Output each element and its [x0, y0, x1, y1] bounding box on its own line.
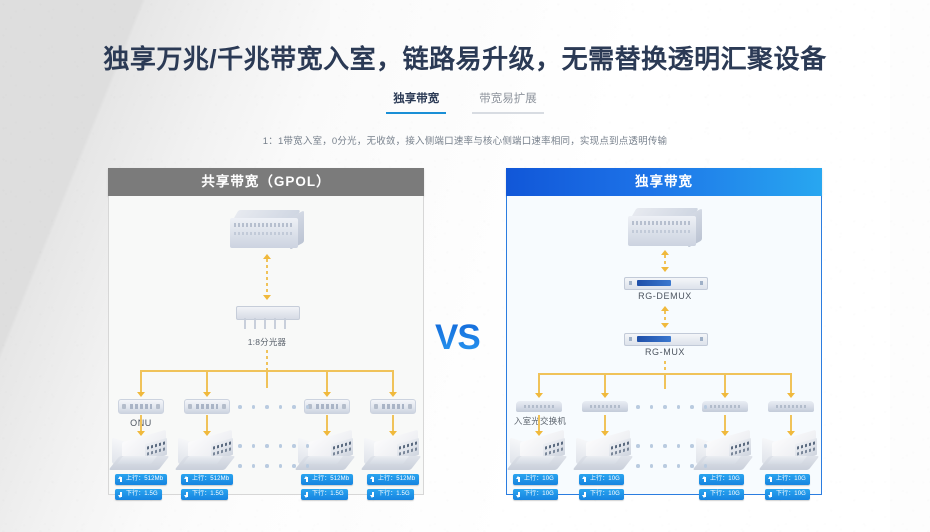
- right-badge-up-2: 上行：10G: [579, 474, 624, 485]
- left-badge-up-4: 上行：512Mb: [367, 474, 419, 485]
- left-badge-up-1: 上行：512Mb: [115, 474, 167, 485]
- right-switch-ellipsis: [636, 405, 707, 409]
- panel-exclusive-title: 独享带宽: [506, 168, 822, 196]
- arrow-down-icon: [516, 491, 521, 498]
- panel-exclusive-bandwidth: 独享带宽 RG-DEMUX RG-MUX: [506, 168, 822, 495]
- left-core-switch-icon: [230, 210, 304, 252]
- left-room-icon-4: [364, 436, 422, 474]
- right-link-3: [664, 361, 666, 373]
- right-drop-arrow-4: [787, 393, 795, 398]
- tab-exclusive-bandwidth[interactable]: 独享带宽: [386, 90, 446, 114]
- left-room-icon-2: [178, 436, 236, 474]
- tab-bar: 独享带宽 带宽易扩展: [0, 90, 930, 114]
- right-badge-up-1: 上行：10G: [513, 474, 558, 485]
- right-room-ellipsis-top: [636, 444, 707, 448]
- right-link-1: [664, 255, 666, 267]
- splitter-label: 1:8分光器: [217, 336, 317, 348]
- in-room-switch-icon-3: [702, 401, 748, 412]
- right-badge-down-4: 下行：10G: [765, 489, 810, 500]
- arrow-up-icon: [304, 476, 309, 483]
- right-drop-2: [604, 373, 606, 395]
- left-drop-2: [206, 370, 208, 394]
- onu-icon-1: [118, 399, 164, 414]
- right-room-icon-2: [576, 436, 634, 474]
- left-drop-arrow-2: [203, 392, 211, 397]
- right-link-2: [664, 311, 666, 323]
- left-drop-arrow-3: [323, 392, 331, 397]
- left-drop-arrow-4: [389, 392, 397, 397]
- onu-icon-2: [184, 399, 230, 414]
- left-drop-3: [326, 370, 328, 394]
- left-drop-arrow-1: [137, 392, 145, 397]
- right-room-ellipsis-bottom: [636, 464, 707, 468]
- right-badge-down-3: 下行：10G: [699, 489, 744, 500]
- right-badge-up-3: 上行：10G: [699, 474, 744, 485]
- right-link-arrow-down-1: [661, 267, 669, 272]
- arrow-up-icon: [768, 476, 773, 483]
- subtitle-note: 1：1带宽入室，0分光，无收敛，接入侧端口速率与核心侧端口速率相同，实现点到点透…: [0, 133, 930, 147]
- left-drop-4: [392, 370, 394, 394]
- rg-mux-label: RG-MUX: [615, 347, 715, 357]
- onu-icon-4: [370, 399, 416, 414]
- page-title: 独享万兆/千兆带宽入室，链路易升级，无需替换透明汇聚设备: [0, 39, 930, 76]
- right-drop-4: [790, 373, 792, 395]
- arrow-down-icon: [370, 491, 375, 498]
- left-drop-1: [140, 370, 142, 394]
- left-badge-down-3: 下行：1.5G: [301, 489, 348, 500]
- arrow-up-icon: [702, 476, 707, 483]
- right-drop-3: [724, 373, 726, 395]
- right-link-arrow-down-2: [661, 323, 669, 328]
- left-onu-ellipsis: [238, 405, 309, 409]
- left-link-arrow-down-1: [263, 295, 271, 300]
- in-room-switch-icon-2: [582, 401, 628, 412]
- left-room-ellipsis-bottom: [238, 464, 309, 468]
- arrow-down-icon: [702, 491, 707, 498]
- rg-mux-icon: [624, 333, 708, 346]
- right-drop-center: [664, 373, 666, 389]
- panel-shared-body: 1:8分光器: [108, 196, 424, 495]
- in-room-switch-icon-1: [516, 401, 562, 412]
- optical-splitter-icon: [236, 306, 298, 322]
- left-room-icon-3: [298, 436, 356, 474]
- left-room-icon-1: [112, 436, 170, 474]
- arrow-down-icon: [118, 491, 123, 498]
- panel-shared-bandwidth: 共享带宽（GPOL） 1:8分光器: [108, 168, 424, 495]
- left-link-1: [266, 259, 268, 295]
- left-badge-up-3: 上行：512Mb: [301, 474, 353, 485]
- left-room-ellipsis-top: [238, 444, 309, 448]
- tab-bandwidth-expansion[interactable]: 带宽易扩展: [472, 90, 544, 114]
- right-drop-arrow-2: [601, 393, 609, 398]
- arrow-down-icon: [582, 491, 587, 498]
- arrow-up-icon: [184, 476, 189, 483]
- right-drop-arrow-1: [535, 393, 543, 398]
- right-badge-down-1: 下行：10G: [513, 489, 558, 500]
- right-room-icon-4: [762, 436, 820, 474]
- panel-exclusive-body: RG-DEMUX RG-MUX: [506, 196, 822, 495]
- rg-demux-icon: [624, 277, 708, 290]
- arrow-up-icon: [118, 476, 123, 483]
- left-link-2: [266, 350, 268, 370]
- onu-icon-3: [304, 399, 350, 414]
- arrow-down-icon: [184, 491, 189, 498]
- arrow-up-icon: [370, 476, 375, 483]
- panel-shared-title: 共享带宽（GPOL）: [108, 168, 424, 196]
- in-room-switch-label: 入室光交换机: [505, 415, 575, 427]
- left-badge-down-2: 下行：1.5G: [181, 489, 228, 500]
- left-badge-down-4: 下行：1.5G: [367, 489, 414, 500]
- right-badge-down-2: 下行：10G: [579, 489, 624, 500]
- in-room-switch-icon-4: [768, 401, 814, 412]
- arrow-up-icon: [516, 476, 521, 483]
- right-core-switch-icon: [628, 208, 702, 250]
- right-badge-up-4: 上行：10G: [765, 474, 810, 485]
- right-room-icon-1: [510, 436, 568, 474]
- arrow-up-icon: [582, 476, 587, 483]
- left-badge-up-2: 上行：512Mb: [181, 474, 233, 485]
- left-drop-center: [266, 370, 268, 388]
- right-room-icon-3: [696, 436, 754, 474]
- right-drop-arrow-3: [721, 393, 729, 398]
- left-badge-down-1: 下行：1.5G: [115, 489, 162, 500]
- rg-demux-label: RG-DEMUX: [615, 291, 715, 301]
- arrow-down-icon: [768, 491, 773, 498]
- vs-label: VS: [435, 318, 480, 358]
- right-drop-1: [538, 373, 540, 395]
- arrow-down-icon: [304, 491, 309, 498]
